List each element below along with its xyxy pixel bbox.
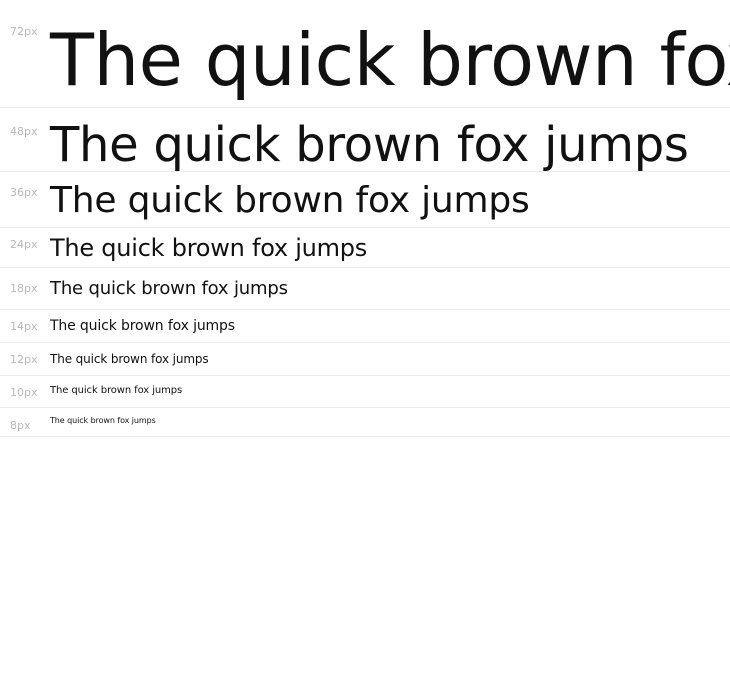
font-sample-text: The quick brown fox jumps [50,319,235,333]
specimen-row: 72px The quick brown fox jumps [0,0,730,108]
specimen-row: 8px The quick brown fox jumps [0,408,730,437]
font-size-label: 48px [10,126,38,137]
font-size-label: 14px [10,321,38,332]
specimen-row: 14px The quick brown fox jumps [0,310,730,343]
font-size-specimen-list: 72px The quick brown fox jumps 48px The … [0,0,730,437]
font-size-label: 36px [10,187,38,198]
font-sample-text: The quick brown fox jumps [50,183,530,219]
specimen-row: 24px The quick brown fox jumps [0,228,730,268]
font-sample-text: The quick brown fox jumps [50,236,367,260]
specimen-row: 36px The quick brown fox jumps [0,172,730,228]
font-size-label: 24px [10,239,38,250]
specimen-row: 12px The quick brown fox jumps [0,343,730,376]
font-sample-text: The quick brown fox jumps [50,121,689,169]
specimen-row: 10px The quick brown fox jumps [0,376,730,408]
specimen-row: 48px The quick brown fox jumps [0,108,730,172]
font-sample-text: The quick brown fox jumps [50,353,209,365]
font-size-label: 12px [10,354,38,365]
font-size-label: 8px [10,420,31,431]
font-sample-text: The quick brown fox jumps [50,417,156,425]
font-size-label: 18px [10,283,38,294]
font-size-label: 10px [10,387,38,398]
font-sample-text: The quick brown fox jumps [50,280,288,298]
font-size-label: 72px [10,26,38,37]
font-sample-text: The quick brown fox jumps [50,386,182,396]
font-sample-text: The quick brown fox jumps [50,24,730,96]
specimen-row: 18px The quick brown fox jumps [0,268,730,310]
